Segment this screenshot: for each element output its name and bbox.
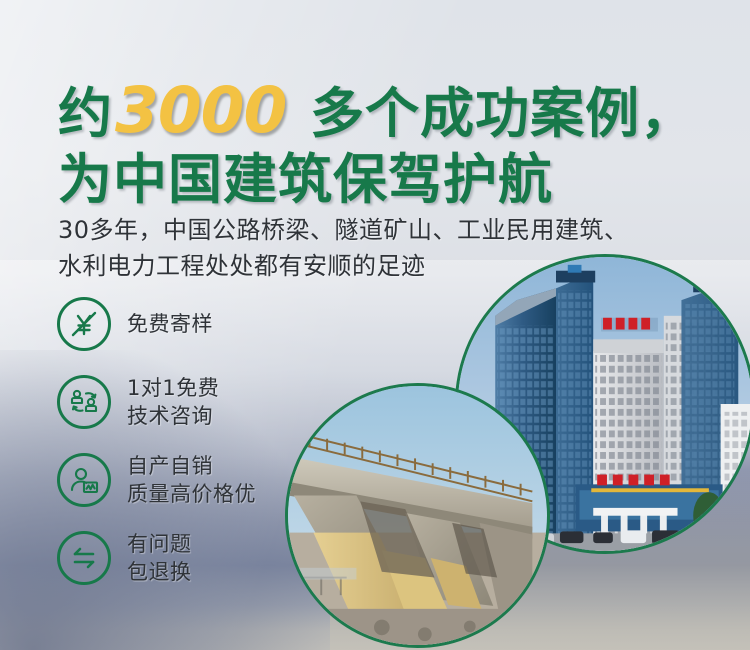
one-on-one-consult-icon — [57, 375, 111, 429]
headline-number: 3000 — [113, 74, 290, 147]
return-exchange-icon — [57, 531, 111, 585]
feature-item-free-sample: 免费寄样 — [57, 296, 307, 352]
feature-label-line-2: 包退换 — [127, 560, 192, 584]
feature-label-line-1: 自产自销 — [127, 454, 213, 478]
feature-label-line-2: 质量高价格优 — [127, 482, 256, 506]
headline: 约3000 多个成功案例， 为中国建筑保驾护航 — [58, 78, 718, 213]
feature-item-production: 自产自销 质量高价格优 — [57, 452, 307, 508]
feature-label-line-1: 有问题 — [127, 532, 192, 556]
feature-item-consult: 1对1免费 技术咨询 — [57, 374, 307, 430]
promo-banner: 约3000 多个成功案例， 为中国建筑保驾护航 30多年，中国公路桥梁、隧道矿山… — [0, 0, 750, 650]
headline-prefix: 约 — [58, 82, 113, 145]
feature-label: 自产自销 质量高价格优 — [127, 452, 256, 508]
headline-line-2: 为中国建筑保驾护航 — [58, 147, 718, 213]
bridge-construction-photo — [285, 383, 550, 648]
subtitle-line-1: 30多年，中国公路桥梁、隧道矿山、工业民用建筑、 — [58, 212, 738, 248]
feature-label: 免费寄样 — [127, 310, 213, 338]
feature-label-line-2: 技术咨询 — [127, 404, 213, 428]
headline-line-1: 约3000 多个成功案例， — [58, 78, 718, 147]
feature-item-return: 有问题 包退换 — [57, 530, 307, 586]
feature-label-line-1: 免费寄样 — [127, 312, 213, 336]
headline-suffix: 多个成功案例， — [290, 82, 695, 145]
feature-label: 有问题 包退换 — [127, 530, 192, 586]
feature-label: 1对1免费 技术咨询 — [127, 374, 219, 430]
subtitle-line-2: 水利电力工程处处都有安顺的足迹 — [58, 248, 738, 284]
self-production-quality-icon — [57, 453, 111, 507]
free-sample-icon — [57, 297, 111, 351]
feature-list: 免费寄样 1对1免费 技术咨询 — [57, 296, 307, 608]
subtitle: 30多年，中国公路桥梁、隧道矿山、工业民用建筑、 水利电力工程处处都有安顺的足迹 — [58, 212, 738, 284]
feature-label-line-1: 1对1免费 — [127, 376, 219, 400]
